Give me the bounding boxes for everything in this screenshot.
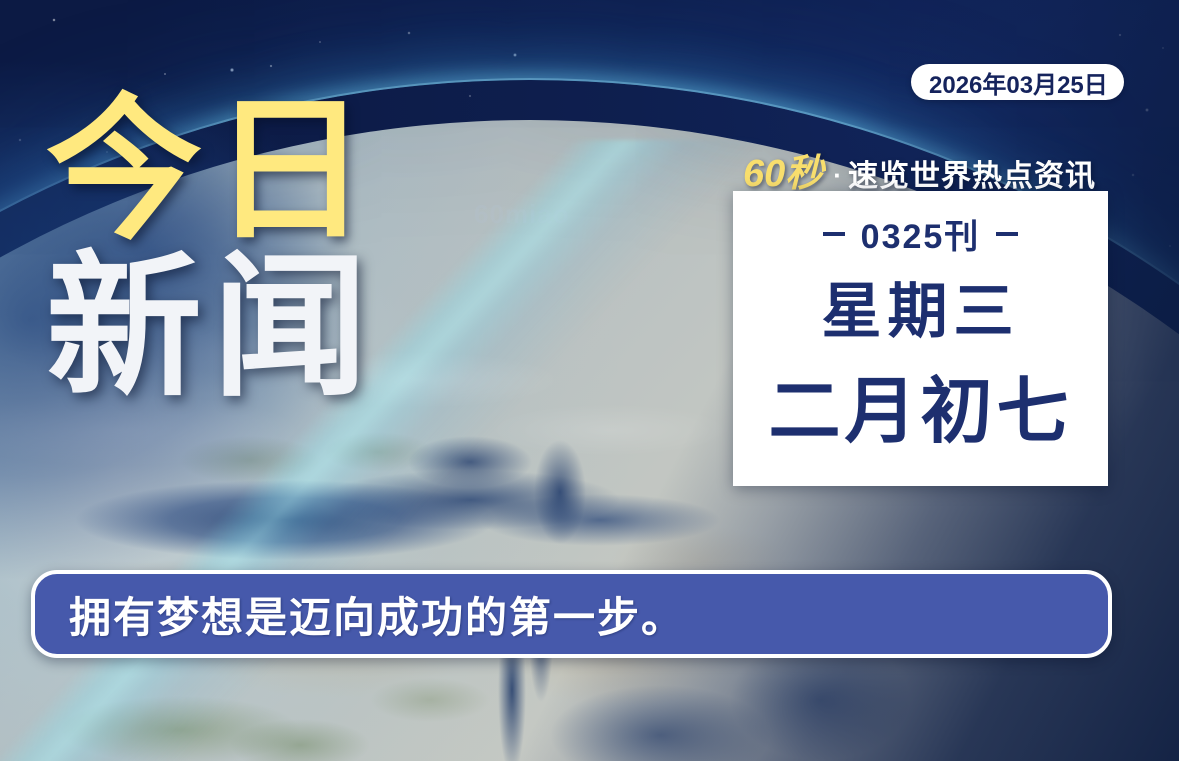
tagline-separator-dot: · — [833, 160, 842, 191]
tagline-seconds: 60秒 — [743, 142, 823, 197]
dash-right-icon — [996, 232, 1018, 236]
dash-left-icon — [823, 232, 845, 236]
watermark-text: 60miao — [474, 199, 570, 230]
issue-number: 0325刊 — [861, 209, 981, 258]
news-poster: 60miao 今日 新闻 2026年03月25日 60秒 · 速览世界热点资讯 … — [0, 0, 1179, 761]
date-badge: 2026年03月25日 — [911, 64, 1124, 100]
tagline: 60秒 · 速览世界热点资讯 — [743, 142, 1096, 197]
quote-banner: 拥有梦想是迈向成功的第一步。 — [31, 570, 1112, 658]
title-line-today: 今日 — [46, 96, 476, 247]
poster-title: 今日 新闻 — [46, 96, 476, 405]
quote-text: 拥有梦想是迈向成功的第一步。 — [69, 584, 685, 645]
issue-number-row: 0325刊 — [823, 209, 1019, 258]
lunar-date-label: 二月初七 — [768, 376, 1072, 448]
tagline-description: 速览世界热点资讯 — [848, 151, 1096, 195]
date-info-card: 0325刊 星期三 二月初七 — [733, 191, 1108, 486]
title-line-news: 新闻 — [46, 253, 476, 404]
weekday-label: 星期三 — [822, 282, 1020, 342]
